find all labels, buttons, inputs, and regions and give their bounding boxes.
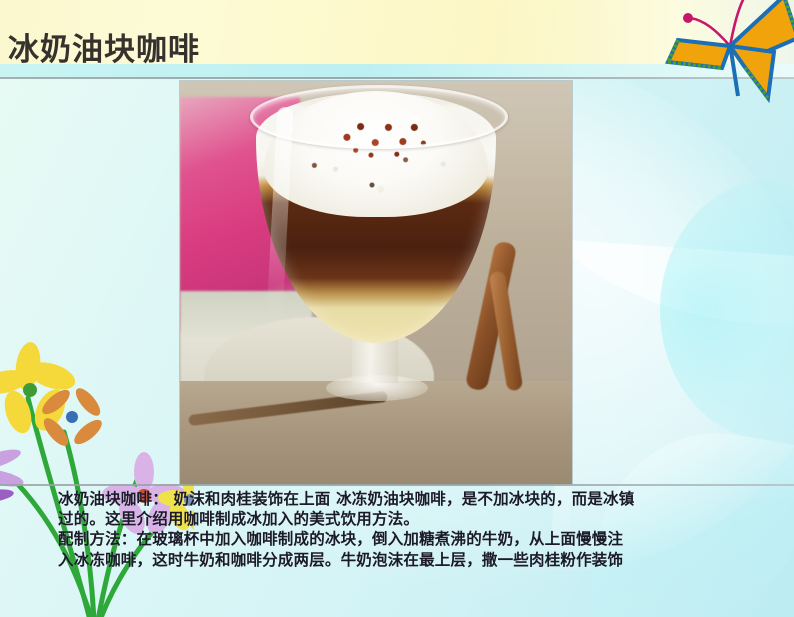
photo-cinnamon-specks [300, 143, 420, 199]
butterfly-icon [660, 0, 794, 104]
flower-yellow-large [0, 341, 79, 437]
ice-cream-coffee-photo [180, 81, 572, 484]
caption-line-3: 配制方法：在玻璃杯中加入咖啡制成的冰块，倒入加糖煮沸的牛奶，从上面慢慢注 [58, 529, 778, 549]
caption-line-4: 入冰冻咖啡，这时牛奶和咖啡分成两层。牛奶泡沫在最上层，撒一些肉桂粉作装饰 [58, 550, 778, 570]
flower-purple-edge [0, 445, 25, 505]
divider-bottom [0, 484, 794, 486]
caption-line-2: 过的。这里介绍用咖啡制成冰加入的美式饮用方法。 [58, 509, 778, 529]
caption-block: 冰奶油块咖啡： 奶沫和肉桂装饰在上面 冰冻奶油块咖啡，是不加冰块的，而是冰镇 过… [58, 489, 778, 570]
flower-cluster-icon [0, 320, 194, 617]
caption-line-1: 冰奶油块咖啡： 奶沫和肉桂装饰在上面 冰冻奶油块咖啡，是不加冰块的，而是冰镇 [58, 489, 778, 509]
slide-root: 冰奶油块咖啡 [0, 0, 794, 617]
background-wing-shape-3 [660, 180, 794, 440]
page-title: 冰奶油块咖啡 [8, 27, 200, 73]
